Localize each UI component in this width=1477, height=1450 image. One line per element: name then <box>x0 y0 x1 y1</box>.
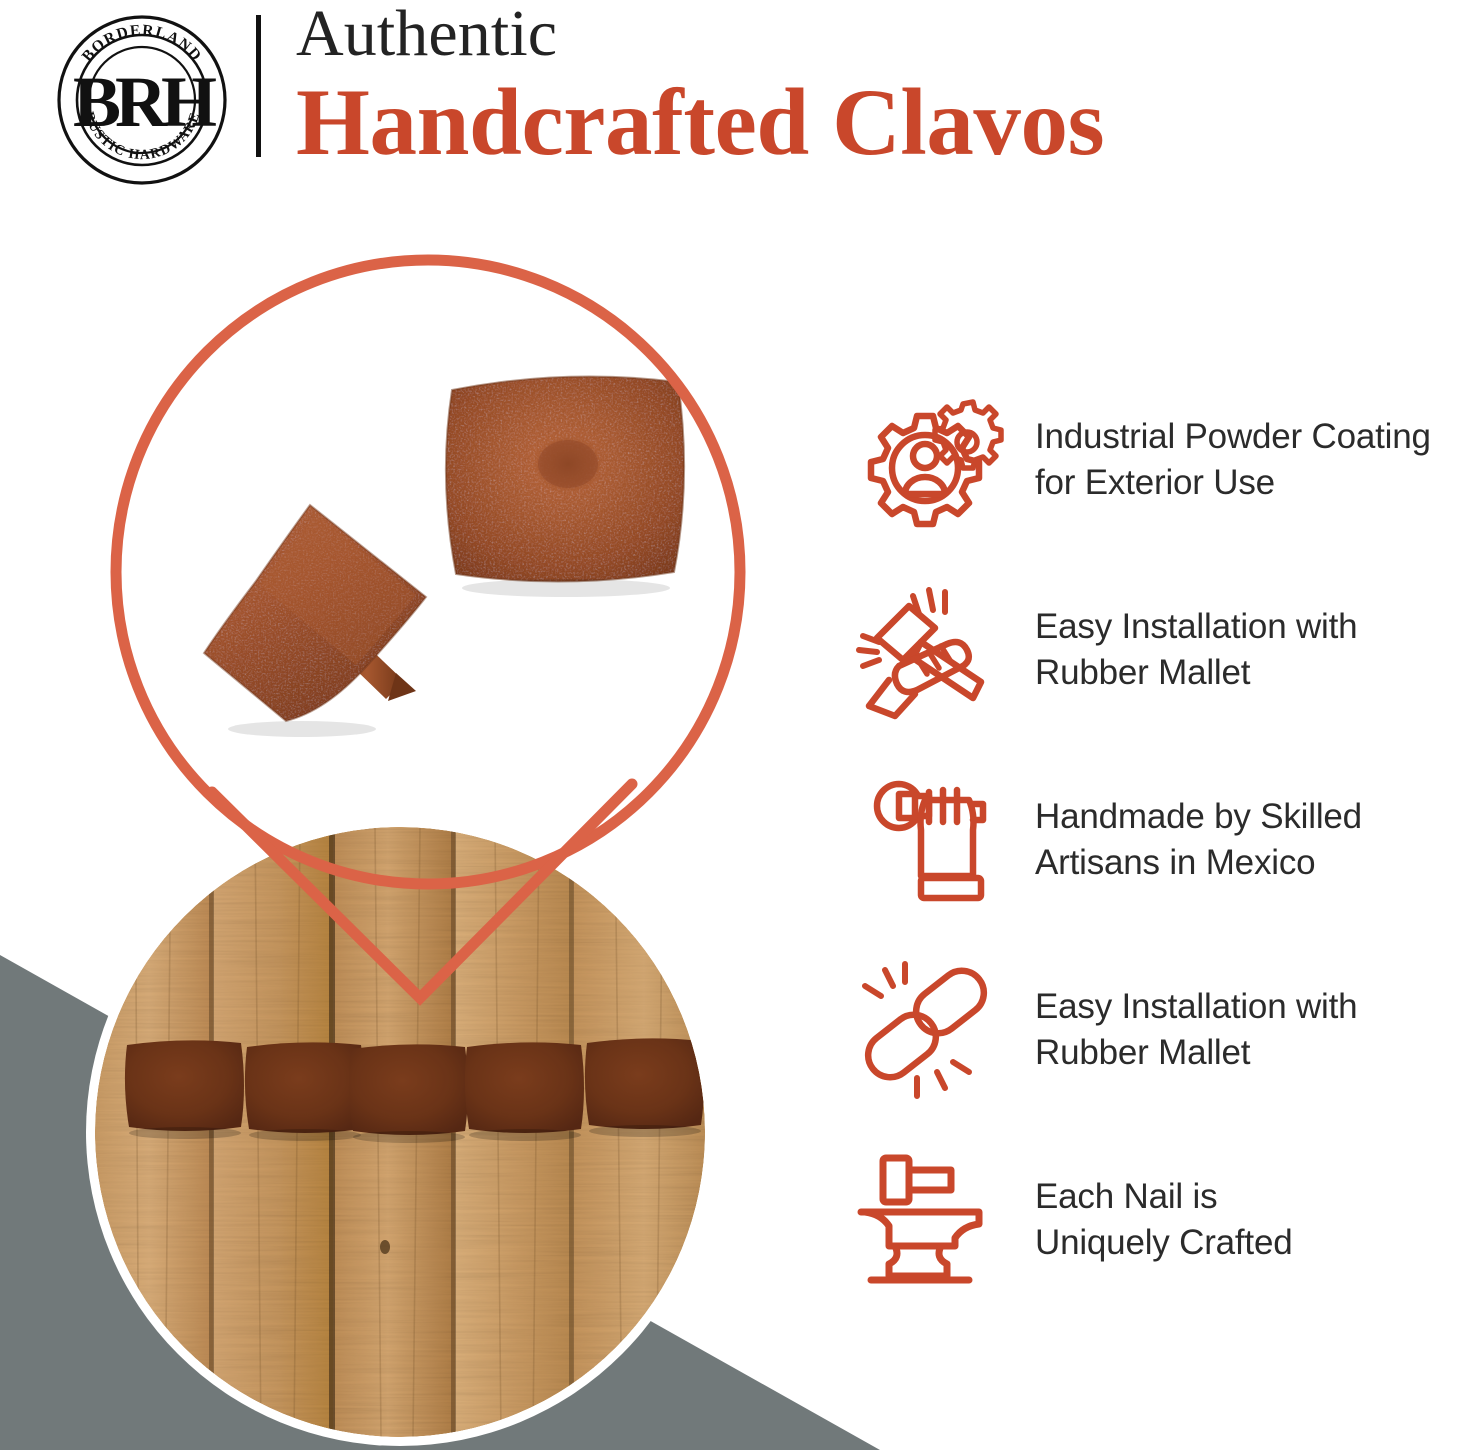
feature-text-line1: Industrial Powder Coating <box>1035 414 1431 460</box>
anvil-hammer-icon <box>855 1150 1005 1290</box>
header-divider <box>256 15 261 157</box>
title-line-handcrafted-clavos: Handcrafted Clavos <box>296 72 1446 172</box>
feature-text-line2: Artisans in Mexico <box>1035 840 1362 886</box>
feature-text-line2: for Exterior Use <box>1035 460 1431 506</box>
installed-nail <box>465 1042 584 1141</box>
clavo-angled-with-shank <box>190 485 480 740</box>
feature-text: Easy Installation with Rubber Mallet <box>1035 604 1357 696</box>
feature-item-powder-coating: Industrial Powder Coating for Exterior U… <box>855 365 1477 555</box>
installed-nail <box>245 1042 364 1141</box>
page-title: Authentic Handcrafted Clavos <box>296 0 1446 172</box>
feature-text-line2: Rubber Mallet <box>1035 1030 1357 1076</box>
borderland-rustic-hardware-logo: BORDERLAND RUSTIC HARDWARE BRH <box>56 14 228 186</box>
logo-monogram-text: BRH <box>73 62 216 142</box>
installed-clavos-photo <box>95 827 705 1437</box>
fist-wrench-icon <box>855 770 1005 910</box>
feature-item-uniquely-crafted: Each Nail is Uniquely Crafted <box>855 1125 1477 1315</box>
feature-item-easy-installation-1: Easy Installation with Rubber Mallet <box>855 555 1477 745</box>
feature-text: Handmade by Skilled Artisans in Mexico <box>1035 794 1362 886</box>
product-visual-column <box>0 200 830 1450</box>
installed-nail <box>125 1040 244 1139</box>
feature-text: Each Nail is Uniquely Crafted <box>1035 1174 1293 1266</box>
feature-text-line2: Rubber Mallet <box>1035 650 1357 696</box>
header: BORDERLAND RUSTIC HARDWARE BRH Authentic… <box>0 0 1477 195</box>
feature-text-line1: Easy Installation with <box>1035 984 1357 1030</box>
feature-text-line1: Each Nail is <box>1035 1174 1293 1220</box>
feature-text: Easy Installation with Rubber Mallet <box>1035 984 1357 1076</box>
feature-item-handmade-mexico: Handmade by Skilled Artisans in Mexico <box>855 745 1477 935</box>
feature-text: Industrial Powder Coating for Exterior U… <box>1035 414 1431 506</box>
hand-mallet-icon <box>855 580 1005 720</box>
feature-text-line2: Uniquely Crafted <box>1035 1220 1293 1266</box>
infographic-canvas: BORDERLAND RUSTIC HARDWARE BRH Authentic… <box>0 0 1477 1450</box>
title-line-authentic: Authentic <box>296 0 1446 70</box>
installed-nail-row <box>125 1038 704 1143</box>
wood-door-with-clavos-illustration <box>95 827 705 1437</box>
installed-nail <box>585 1038 704 1137</box>
gear-person-icon <box>855 390 1005 530</box>
installed-nail <box>349 1044 468 1143</box>
chain-link-icon <box>855 960 1005 1100</box>
feature-text-line1: Handmade by Skilled <box>1035 794 1362 840</box>
clavos-product-photo <box>140 300 700 820</box>
feature-text-line1: Easy Installation with <box>1035 604 1357 650</box>
feature-item-easy-installation-2: Easy Installation with Rubber Mallet <box>855 935 1477 1125</box>
feature-list: Industrial Powder Coating for Exterior U… <box>855 365 1477 1315</box>
